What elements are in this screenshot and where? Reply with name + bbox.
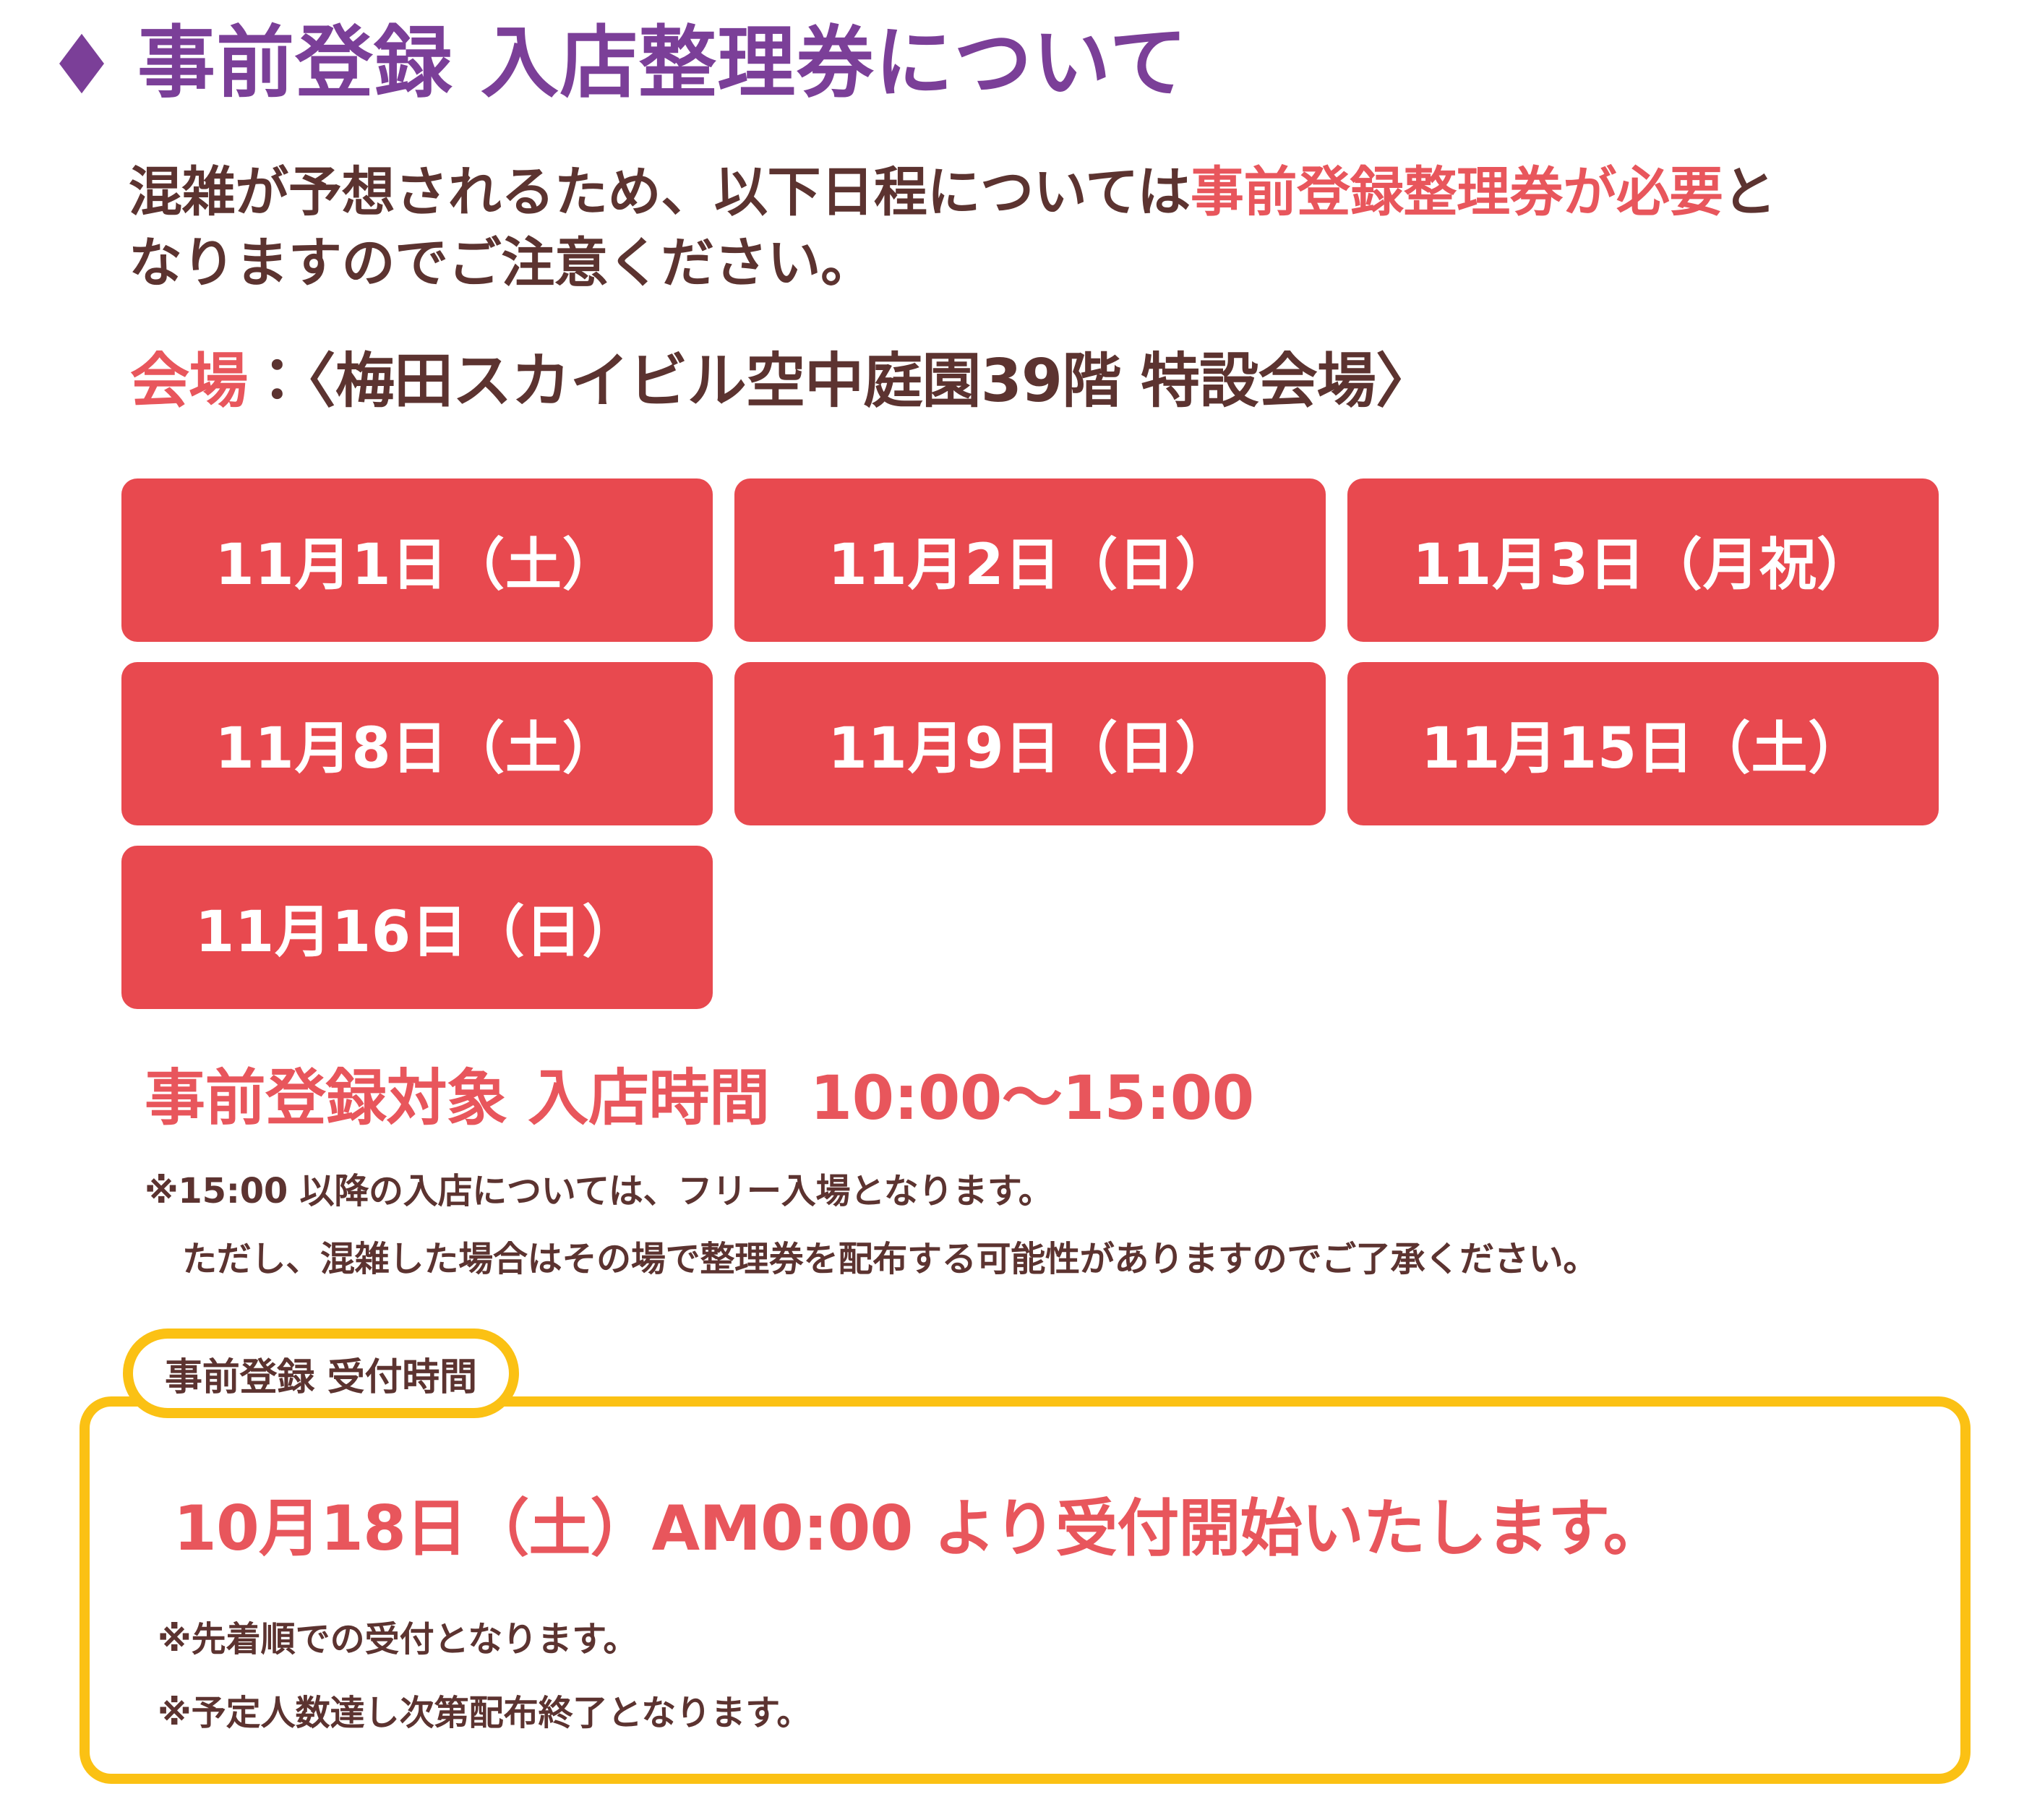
entry-time-label: 事前登録対象 入店時間 bbox=[145, 1063, 770, 1133]
diamond-icon bbox=[51, 33, 113, 95]
venue-line: 会場：〈梅田スカイビル空中庭園39階 特設会場〉 bbox=[130, 347, 1434, 417]
intro-line1-before: 混雑が予想されるため、以下日程については bbox=[129, 161, 1191, 223]
note-crowding: ただし、混雑した場合はその場で整理券を配布する可能性がありますのでご了承ください… bbox=[182, 1230, 1598, 1281]
intro-highlight: 事前登録整理券が必要 bbox=[1191, 161, 1723, 223]
venue-label: 会場 bbox=[130, 347, 247, 416]
registration-note-capacity: ※予定人数達し次第配布終了となります。 bbox=[158, 1684, 811, 1735]
date-chip[interactable]: 11月9日（日） bbox=[734, 662, 1326, 825]
section-heading: 事前登録 入店整理券について bbox=[51, 20, 1188, 108]
registration-note-first-come: ※先着順での受付となります。 bbox=[158, 1610, 638, 1661]
date-chip[interactable]: 11月8日（土） bbox=[121, 662, 713, 825]
poster-section: 事前登録 入店整理券について 混雑が予想されるため、以下日程については事前登録整… bbox=[0, 0, 2024, 1820]
date-chip[interactable]: 11月1日（土） bbox=[121, 478, 713, 642]
registration-tab-label: 事前登録 受付時間 bbox=[165, 1347, 477, 1401]
intro-line1-after: と bbox=[1723, 161, 1776, 223]
entry-time-value: 10:00〜15:00 bbox=[810, 1063, 1254, 1133]
registration-box-tab: 事前登録 受付時間 bbox=[123, 1328, 519, 1418]
page-title: 事前登録 入店整理券について bbox=[137, 20, 1188, 108]
intro-paragraph: 混雑が予想されるため、以下日程については事前登録整理券が必要と なりますのでご注… bbox=[129, 158, 1965, 299]
note-free-entry: ※15:00 以降の入店については、フリー入場となります。 bbox=[145, 1162, 1053, 1213]
date-chip[interactable]: 11月3日（月祝） bbox=[1347, 478, 1939, 642]
entry-time-headline: 事前登録対象 入店時間10:00〜15:00 bbox=[145, 1049, 1254, 1137]
date-chip[interactable]: 11月16日（日） bbox=[121, 846, 713, 1009]
date-chip[interactable]: 11月2日（日） bbox=[734, 478, 1326, 642]
date-chip-grid: 11月1日（土） 11月2日（日） 11月3日（月祝） 11月8日（土） 11月… bbox=[121, 478, 1979, 1009]
intro-line2: なりますのでご注意ください。 bbox=[129, 232, 874, 294]
date-chip[interactable]: 11月15日（土） bbox=[1347, 662, 1939, 825]
venue-separator: ： bbox=[247, 347, 306, 416]
venue-value: 〈梅田スカイビル空中庭園39階 特設会場〉 bbox=[306, 347, 1434, 416]
registration-headline: 10月18日（土）AM0:00 より受付開始いたします。 bbox=[173, 1477, 1665, 1568]
